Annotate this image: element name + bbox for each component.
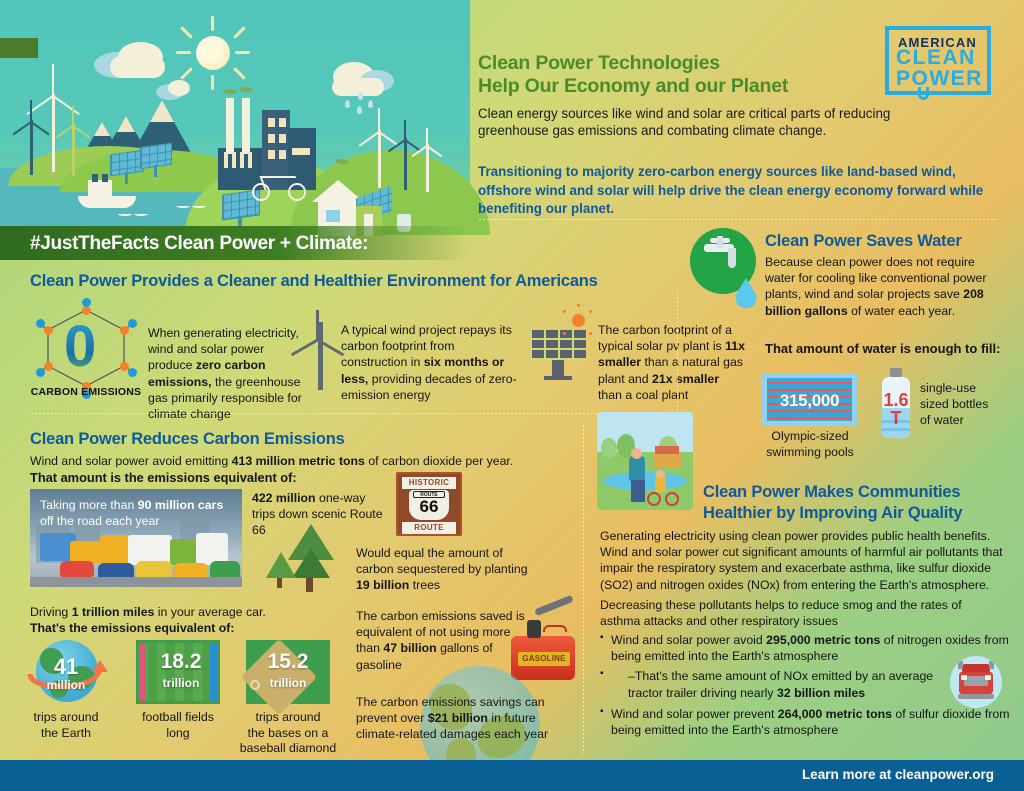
node-dot (82, 298, 91, 307)
node-dot (128, 368, 137, 377)
route-66-sign: HISTORIC ROUTE 66 ROUTE (396, 472, 462, 536)
gasoline-text: The carbon emissions saved is equivalent… (356, 608, 532, 673)
tile-earth-unit: million (24, 678, 108, 692)
tile-football-field: 18.2 trillion (136, 640, 220, 704)
air-bullet-1: Wind and solar power avoid 295,000 metri… (600, 632, 1012, 664)
american-clean-power-logo[interactable]: AMERICAN CLEAN POWER (885, 26, 991, 95)
sun-ray (233, 26, 246, 39)
node-dot (120, 326, 129, 335)
carbon-lead: Wind and solar power avoid emitting 413 … (30, 453, 575, 469)
tile-baseball-value: 15.2 (246, 650, 330, 674)
node-dot (36, 319, 45, 328)
turbine-blade (56, 125, 74, 138)
pool-lane (767, 417, 852, 419)
bottle-caption-l2: sized bottles (920, 396, 1020, 412)
section-heading-environment: Clean Power Provides a Cleaner and Healt… (30, 272, 598, 291)
boat-stack (92, 174, 98, 182)
house-window (326, 210, 340, 222)
leaf-icon (239, 84, 253, 95)
driving-c: in your average car. (154, 605, 265, 619)
corner-accent (0, 38, 38, 58)
panel-stand (154, 165, 157, 177)
wave (134, 212, 148, 216)
cars-c: off the road each year (40, 514, 159, 528)
traffic-photo: Taking more than 90 million cars off the… (30, 489, 242, 587)
section-heading-water: Clean Power Saves Water (765, 232, 962, 251)
zero-carbon-emissions-icon: 0 CARBON EMISSIONS (28, 302, 144, 404)
turbine-blade (378, 108, 380, 132)
raindrop-icon (357, 106, 362, 114)
route-sign-top: HISTORIC (402, 477, 456, 489)
air-para-2: Decreasing these pollutants helps to red… (600, 597, 1000, 629)
sun-ray (180, 26, 193, 39)
wave (192, 204, 206, 208)
route-sign-number: 66 (409, 498, 449, 517)
wave (118, 212, 132, 216)
swimming-pool-graphic: 315,000 (762, 373, 857, 426)
sun-icon (572, 314, 585, 327)
tile-football-cap2: long (126, 726, 230, 742)
env-fact-2: A typical wind project repays its carbon… (341, 322, 521, 403)
page-highlight-text: Transitioning to majority zero-carbon en… (478, 163, 998, 219)
tile-earth: 41 million (24, 640, 108, 704)
tile-football-cap1: football fields (126, 710, 230, 726)
turbine-blade (30, 100, 32, 122)
water-body-text: Because clean power does not require wat… (765, 254, 1003, 319)
tile-football-unit: trillion (139, 676, 223, 690)
water-subhead: That amount of water is enough to fill: (765, 340, 1000, 357)
divider-vertical-main (582, 424, 584, 754)
window (248, 152, 252, 168)
turbine-blade (12, 121, 31, 135)
pool-inner: 315,000 (767, 378, 852, 421)
trees-c: trees (409, 578, 440, 592)
boat-stack (102, 174, 108, 182)
wind-turbine-icon (378, 130, 381, 188)
wind-turbine-icon (426, 144, 429, 192)
page-subtitle: Clean energy sources like wind and solar… (478, 105, 903, 140)
raindrop-icon (345, 100, 350, 108)
section-heading-air-l2: Healthier by Improving Air Quality (703, 503, 962, 524)
cars-b: 90 million cars (138, 498, 223, 512)
driving-subhead: That's the emissions equivalent of: (30, 620, 235, 636)
window (292, 148, 310, 155)
turbine-blade (72, 106, 74, 126)
section-heading-carbon: Clean Power Reduces Carbon Emissions (30, 430, 345, 449)
zero-glyph: 0 (64, 318, 96, 376)
driving-a: Driving (30, 605, 72, 619)
tile-earth-cap1: trips around (24, 710, 108, 726)
hero-illustration (0, 0, 470, 232)
wind-turbine-icon (52, 94, 55, 172)
smokestack-icon (242, 98, 250, 154)
air-b2-a: Wind and solar power prevent (611, 707, 778, 721)
node-dot (36, 368, 45, 377)
hashtag-banner-text: #JustTheFacts Clean Power + Climate: (30, 233, 368, 255)
carbon-lead-c: of carbon dioxide per year. (365, 454, 513, 468)
tile-baseball-cap1: trips around (232, 710, 344, 726)
route-shield: ROUTE 66 (409, 490, 449, 520)
sun-ray (176, 51, 191, 54)
turbine-blade (30, 121, 49, 135)
header-text-block: Clean Power Technologies Help Our Econom… (478, 52, 878, 140)
tile-baseball-unit: trillion (246, 676, 330, 690)
plug-icon (918, 87, 929, 100)
smokestack-icon (226, 98, 234, 154)
page-title-line2: Help Our Economy and our Planet (478, 75, 878, 98)
raindrop-icon (358, 92, 363, 100)
window (268, 134, 275, 143)
traffic-caption: Taking more than 90 million cars off the… (40, 497, 234, 529)
sun-icon (196, 36, 230, 70)
boat-icon (78, 196, 136, 208)
air-para-1: Generating electricity using clean power… (600, 528, 1012, 593)
node-dot (82, 306, 91, 315)
sun-ray (211, 75, 214, 90)
tile-baseball-diamond: 15.2 trillion (246, 640, 330, 704)
carbon-emissions-caption: CARBON EMISSIONS (28, 386, 144, 398)
trees-text: Would equal the amount of carbon sequest… (356, 545, 536, 594)
bottle-count-unit: T (878, 408, 914, 429)
node-dot (44, 362, 53, 371)
raindrop-icon (368, 100, 373, 108)
cloud-icon (110, 56, 165, 78)
trees-b: 19 billion (356, 578, 409, 592)
footer-bar: Learn more at cleanpower.org (0, 760, 1024, 791)
tile-football-value: 18.2 (139, 650, 223, 674)
carbon-lead-b: 413 million metric tons (232, 454, 365, 468)
damages-text: The carbon emissions savings can prevent… (356, 694, 568, 743)
tile-earth-cap2: the Earth (24, 726, 108, 742)
tile-baseball-cap3: baseball diamond (232, 741, 344, 757)
env-fact-3-a: The carbon footprint of a typical solar … (598, 323, 732, 353)
water-body-c: of water each year. (848, 304, 955, 318)
carbon-subhead: That amount is the emissions equivalent … (30, 470, 297, 487)
turbine-blade (404, 120, 406, 140)
air-b2-b: 264,000 metric tons (778, 707, 892, 721)
air-bullet-1-sub: –That's the same amount of NOx emitted b… (600, 668, 950, 700)
bicycle-frame (259, 176, 300, 190)
divider-vertical-water (676, 292, 678, 422)
air-bullet-2: Wind and solar power prevent 264,000 met… (600, 706, 1012, 738)
env-fact-1: When generating electricity, wind and so… (148, 325, 308, 422)
wind-turbine-icon (404, 138, 407, 190)
tile-earth-caption: trips around the Earth (24, 710, 108, 741)
wind-turbine-icon (72, 124, 75, 176)
tile-football-caption: football fields long (126, 710, 230, 741)
tile-baseball-caption: trips around the bases on a baseball dia… (232, 710, 344, 757)
wind-turbine-icon (30, 120, 33, 175)
window (279, 150, 286, 159)
pool-caption-l2: swimming pools (757, 444, 863, 460)
air-b1-a: Wind and solar power avoid (611, 633, 766, 647)
sun-ray (233, 67, 246, 80)
hashtag-banner: #JustTheFacts Clean Power + Climate: (0, 226, 470, 260)
section-heading-air-l1: Clean Power Makes Communities (703, 482, 960, 503)
cars-a: Taking more than (40, 498, 138, 512)
leaf-icon (223, 86, 237, 97)
window (232, 152, 236, 168)
driving-text: Driving 1 trillion miles in your average… (30, 604, 350, 620)
pool-count-value: 315,000 (767, 391, 852, 411)
air-b1-sub-b: 32 billion miles (777, 686, 865, 700)
tile-earth-value: 41 (24, 654, 108, 680)
node-dot (128, 319, 137, 328)
page-title-line1: Clean Power Technologies (478, 52, 878, 75)
driving-b: 1 trillion miles (72, 605, 155, 619)
window (268, 150, 275, 159)
cloud-icon (168, 80, 190, 96)
divider-environment (30, 412, 675, 414)
window (279, 134, 286, 143)
gas-b: 47 billion (383, 641, 436, 655)
boat-cabin (88, 180, 112, 196)
window (240, 152, 244, 168)
sun-ray (211, 16, 214, 31)
divider-header (478, 218, 998, 220)
pool-lane (767, 382, 852, 384)
logo-text-power: POWER (896, 68, 983, 89)
bottle-caption: single-use sized bottles of water (920, 380, 1020, 429)
damages-b: $21 billion (428, 711, 488, 725)
turbine-blade (52, 64, 54, 96)
sun-ray (235, 51, 250, 54)
water-body-a: Because clean power does not require wat… (765, 255, 986, 301)
park-family-photo (597, 412, 693, 510)
trees-a: Would equal the amount of carbon sequest… (356, 546, 528, 576)
env-fact-3-e: than a coal plant (598, 388, 688, 402)
logo-text-clean: CLEAN (896, 47, 976, 68)
footer-link[interactable]: Learn more at cleanpower.org (802, 767, 994, 782)
turbine-blade (426, 128, 428, 146)
tile-baseball-cap2: the bases on a (232, 726, 344, 742)
turbine-blade (52, 95, 79, 115)
sun-ray (180, 67, 193, 80)
env-fact-3-d: 21x smaller (652, 372, 719, 386)
tractor-trailer-icon (950, 656, 1002, 708)
pool-caption: Olympic-sized swimming pools (757, 428, 863, 460)
window (268, 118, 275, 127)
node-dot (44, 326, 53, 335)
carbon-lead-a: Wind and solar power avoid emitting (30, 454, 232, 468)
window (279, 118, 286, 127)
bottle-caption-l1: single-use (920, 380, 1020, 396)
pool-caption-l1: Olympic-sized (757, 428, 863, 444)
bottle-caption-l3: of water (920, 412, 1020, 428)
panel-stand (125, 172, 128, 184)
turbine-blade (359, 131, 380, 146)
infographic-page: Clean Power Technologies Help Our Econom… (0, 0, 1024, 791)
window (224, 152, 228, 168)
env-fact-3: The carbon footprint of a typical solar … (598, 322, 746, 403)
route-sign-bottom: ROUTE (402, 522, 456, 534)
water-bottle-graphic: 1.6 T (878, 368, 914, 438)
wave (176, 204, 190, 208)
bottle-cap (890, 368, 902, 377)
air-b1-b: 295,000 metric tons (766, 633, 880, 647)
env-fact-2-c: providing decades of zero-emission energ… (341, 372, 517, 402)
route-a: 422 million (252, 491, 316, 505)
